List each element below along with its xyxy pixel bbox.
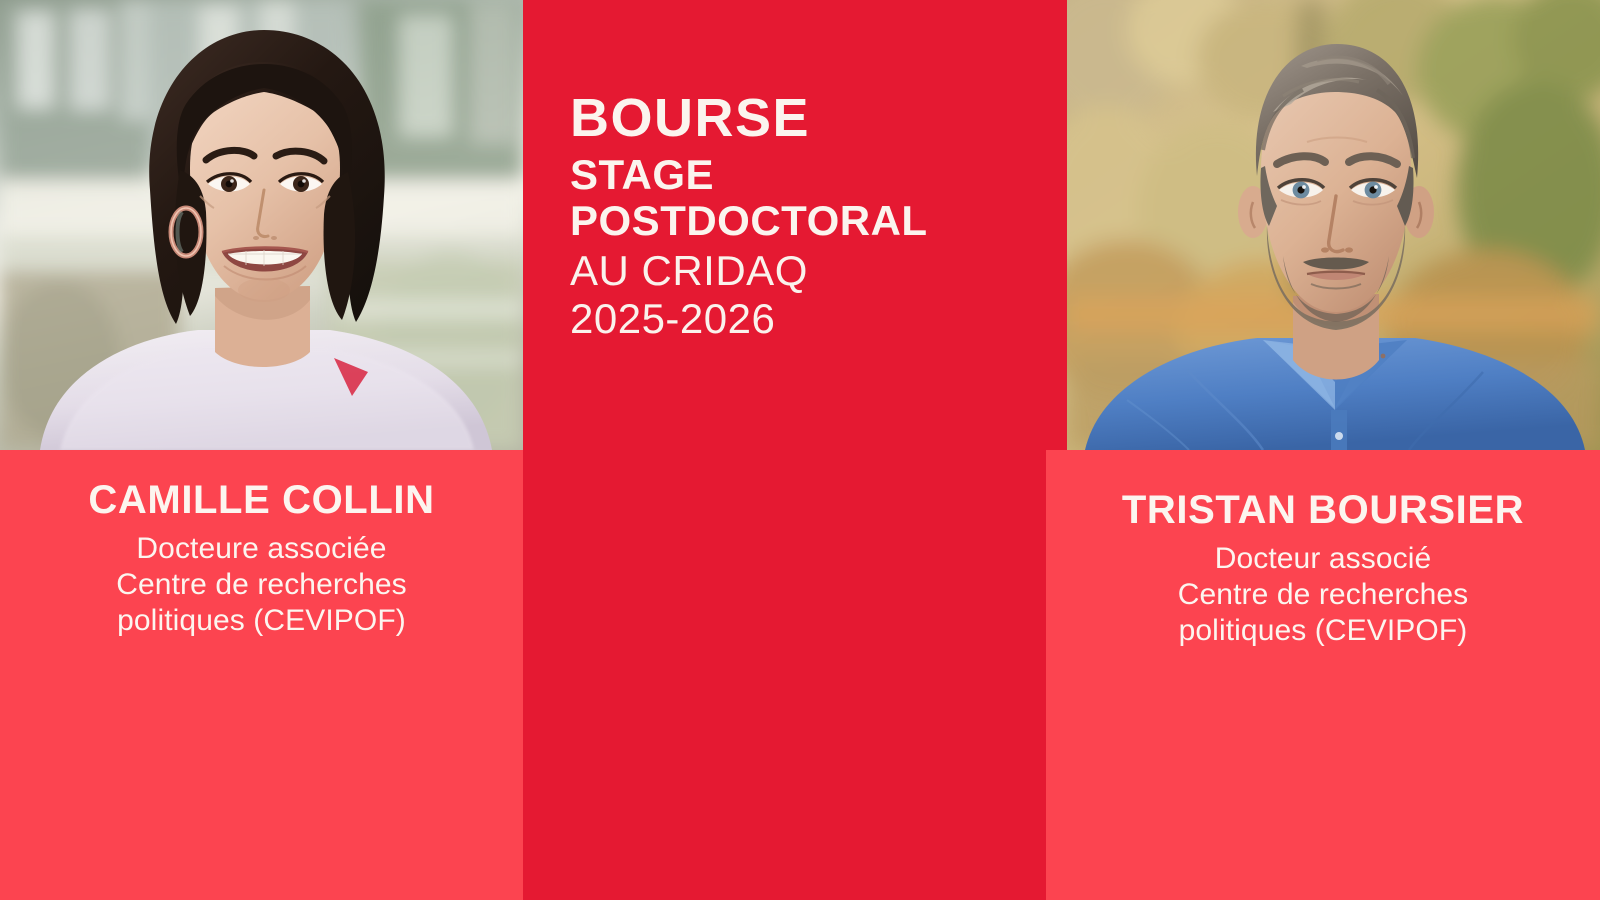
person-caption-right: TRISTAN BOURSIER Docteur associé Centre … [1046,488,1600,649]
person-affiliation-right-1: Centre de recherches [1046,577,1600,613]
person-caption-left: CAMILLE COLLIN Docteure associée Centre … [0,478,523,639]
poster-title-block: BOURSE STAGE POSTDOCTORAL AU CRIDAQ 2025… [570,92,1040,343]
portrait-photo-left [0,0,523,450]
title-line-years: 2025-2026 [570,295,1040,343]
person-affiliation-left-2: politiques (CEVIPOF) [0,603,523,639]
portrait-photo-right [1067,0,1600,450]
person-affiliation-right-2: politiques (CEVIPOF) [1046,613,1600,649]
poster-canvas: BOURSE STAGE POSTDOCTORAL AU CRIDAQ 2025… [0,0,1600,900]
person-name-right: TRISTAN BOURSIER [1046,488,1600,532]
person-name-left: CAMILLE COLLIN [0,478,523,522]
person-details-right: Docteur associé Centre de recherches pol… [1046,541,1600,649]
title-line-postdoctoral: POSTDOCTORAL [570,199,1040,244]
right-photo-gutter [1046,0,1067,450]
title-line-bourse: BOURSE [570,92,1040,145]
title-line-au-cridaq: AU CRIDAQ [570,247,1040,295]
title-line-stage: STAGE [570,151,1040,199]
person-details-left: Docteure associée Centre de recherches p… [0,531,523,639]
person-affiliation-left-1: Centre de recherches [0,567,523,603]
person-role-right: Docteur associé [1046,541,1600,577]
person-role-left: Docteure associée [0,531,523,567]
